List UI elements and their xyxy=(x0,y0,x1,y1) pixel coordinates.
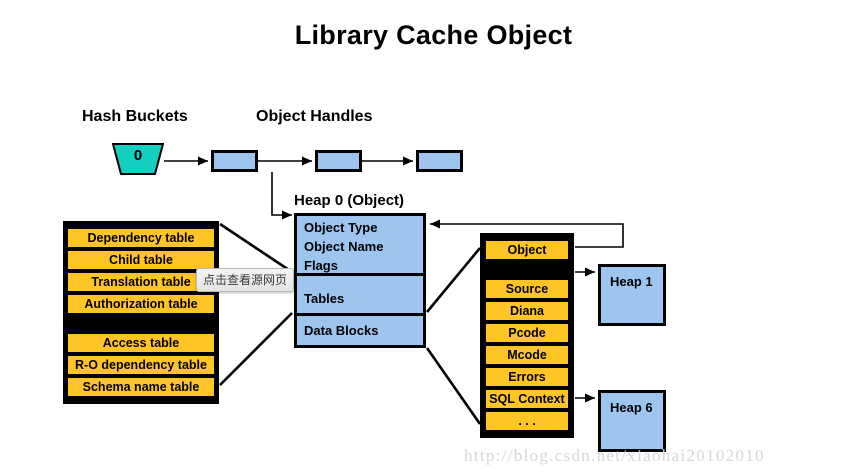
heap-1-label: Heap 1 xyxy=(610,274,653,289)
heap0-flags: Flags xyxy=(304,256,423,275)
heap-1-box[interactable]: Heap 1 xyxy=(598,264,666,326)
list-item[interactable]: Diana xyxy=(486,302,568,320)
heap0-box[interactable]: Object Type Object Name Flags Tables Dat… xyxy=(294,213,426,348)
table-row[interactable]: Child table xyxy=(68,251,214,269)
right-heap-stack: Object Source Diana Pcode Mcode Errors S… xyxy=(480,233,574,438)
hash-bucket-0[interactable]: 0 xyxy=(112,143,164,175)
heap0-section-identity: Object Type Object Name Flags xyxy=(297,216,423,276)
heap0-object-name: Object Name xyxy=(304,237,423,256)
heap0-object-type: Object Type xyxy=(304,216,423,237)
watermark-url: http://blog.csdn.net/xiaohai20102010 xyxy=(464,446,765,466)
list-item[interactable]: Errors xyxy=(486,368,568,386)
list-item[interactable]: . . . xyxy=(486,412,568,430)
list-item[interactable]: Mcode xyxy=(486,346,568,364)
list-item[interactable]: SQL Context xyxy=(486,390,568,408)
heap-6-box[interactable]: Heap 6 xyxy=(598,390,666,452)
right-heap-group-2: Source Diana Pcode Mcode Errors SQL Cont… xyxy=(486,272,568,438)
left-table-group-1: Dependency table Child table Translation… xyxy=(68,221,214,321)
table-row[interactable]: Authorization table xyxy=(68,295,214,313)
right-heap-group-1: Object xyxy=(486,233,568,267)
heap0-data-blocks: Data Blocks xyxy=(304,316,423,340)
table-row[interactable]: R-O dependency table xyxy=(68,356,214,374)
list-item[interactable]: Source xyxy=(486,280,568,298)
view-source-tooltip[interactable]: 点击查看源网页 xyxy=(196,268,294,292)
table-row[interactable]: Access table xyxy=(68,334,214,352)
table-row[interactable]: Translation table xyxy=(68,273,214,291)
heap0-tables: Tables xyxy=(304,276,423,308)
object-handle-2[interactable] xyxy=(315,150,362,172)
diagram-canvas: Library Cache Object Hash Buckets Object… xyxy=(0,0,867,474)
object-handle-3[interactable] xyxy=(416,150,463,172)
left-table-stack: Dependency table Child table Translation… xyxy=(63,221,219,404)
heap-6-label: Heap 6 xyxy=(610,400,653,415)
table-row[interactable]: Schema name table xyxy=(68,378,214,396)
object-handle-1[interactable] xyxy=(211,150,258,172)
heap0-section-data-blocks: Data Blocks xyxy=(297,316,423,345)
heap0-section-tables: Tables xyxy=(297,276,423,316)
left-table-group-2: Access table R-O dependency table Schema… xyxy=(68,326,214,404)
table-row[interactable]: Dependency table xyxy=(68,229,214,247)
list-item[interactable]: Object xyxy=(486,241,568,259)
list-item[interactable]: Pcode xyxy=(486,324,568,342)
hash-bucket-label: 0 xyxy=(112,147,164,164)
